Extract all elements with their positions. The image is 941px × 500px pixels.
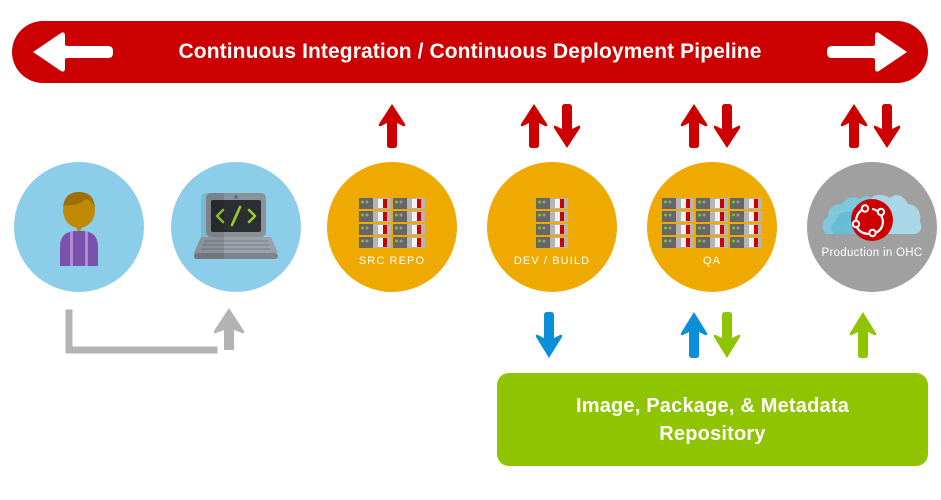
feedback-loop-arrow-icon: [64, 305, 249, 360]
arrow-up-production-repo: [848, 311, 878, 359]
server-rack-icon: [662, 198, 762, 248]
server-rack-icon: [359, 198, 425, 248]
node-production[interactable]: Production in OHC: [807, 162, 937, 292]
arrow-up-production: [839, 103, 869, 149]
node-label-dev-build: DEV / BUILD: [487, 254, 617, 268]
pipeline-banner: Continuous Integration / Continuous Depl…: [12, 21, 928, 83]
cloud-openshift-icon: [820, 180, 924, 242]
node-developer[interactable]: [14, 162, 144, 292]
node-workstation[interactable]: [171, 162, 301, 292]
arrow-down-dev-build: [552, 103, 582, 149]
node-src-repo[interactable]: SRC REPO: [327, 162, 457, 292]
pipeline-banner-title: Continuous Integration / Continuous Depl…: [12, 21, 928, 83]
arrow-right-icon: [825, 31, 909, 73]
arrow-down-qa-repo: [712, 311, 742, 359]
server-rack-icon: [536, 198, 568, 248]
arrow-down-production: [872, 103, 902, 149]
arrow-up-qa-repo: [679, 311, 709, 359]
artifact-repository-label: Image, Package, & Metadata Repository: [576, 392, 849, 448]
node-label-qa: QA: [647, 254, 777, 268]
laptop-code-icon: [193, 192, 279, 262]
node-label-src-repo: SRC REPO: [327, 254, 457, 268]
arrow-down-qa: [712, 103, 742, 149]
node-label-production: Production in OHC: [807, 246, 937, 260]
node-dev-build[interactable]: DEV / BUILD: [487, 162, 617, 292]
artifact-repository-box[interactable]: Image, Package, & Metadata Repository: [497, 373, 928, 466]
arrow-down-dev-build-repo: [534, 311, 564, 359]
arrow-up-dev-build: [519, 103, 549, 149]
developer-person-icon: [40, 188, 118, 266]
arrow-up-qa: [679, 103, 709, 149]
node-qa[interactable]: QA: [647, 162, 777, 292]
cicd-pipeline-diagram: Continuous Integration / Continuous Depl…: [0, 0, 941, 500]
arrow-up-src-repo: [377, 103, 407, 149]
